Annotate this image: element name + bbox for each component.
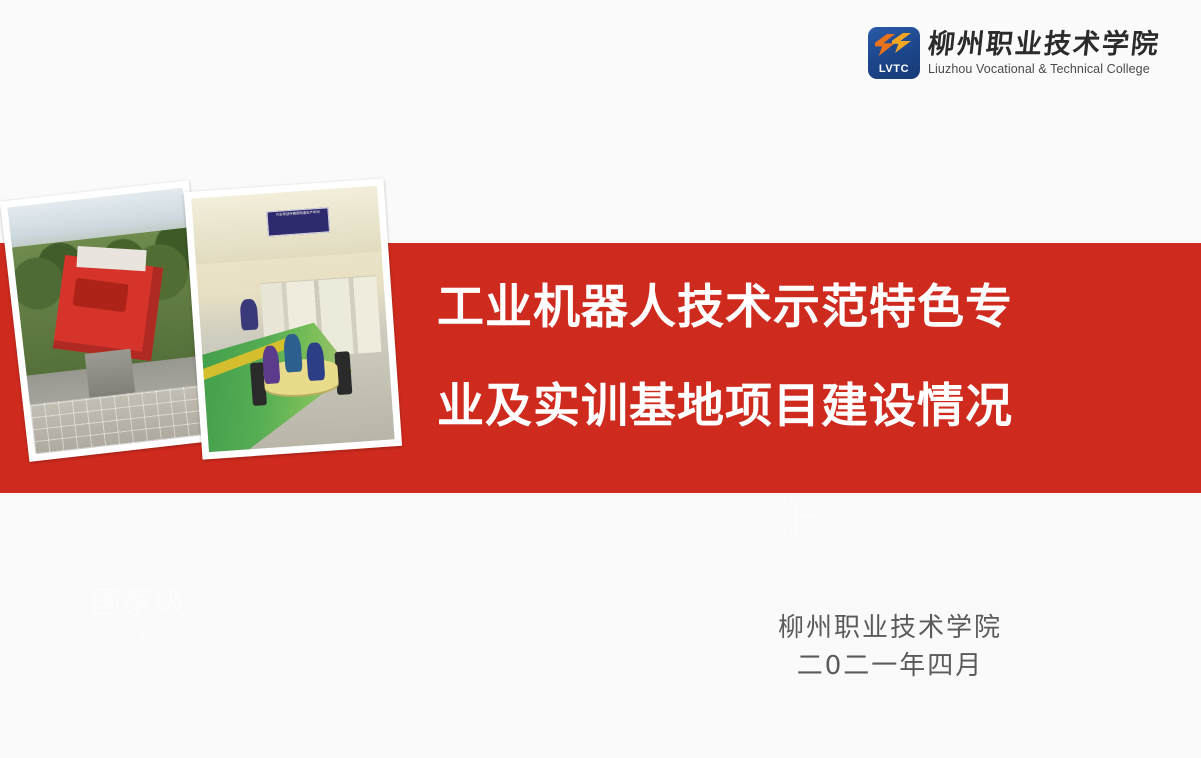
- title-line-1: 工业机器人技术示范特色专: [437, 282, 1137, 334]
- slide-title: 工业机器人技术示范特色专 业及实训基地项目建设情况 汇报: [437, 282, 1137, 433]
- logo-bolt-orange-icon: [875, 34, 895, 56]
- title-line-3: 汇报: [726, 495, 822, 547]
- ghost-text-line-2: 骨干高职院校: [90, 630, 290, 648]
- college-logo-lockup: LVTC 柳州职业技术学院 Liuzhou Vocational & Techn…: [868, 24, 1166, 82]
- logo-text-block: 柳州职业技术学院 Liuzhou Vocational & Technical …: [928, 31, 1160, 76]
- ghost-watermark-text: 国家级 骨干高职院校: [90, 586, 290, 648]
- lvtc-logo-icon: LVTC: [868, 27, 920, 79]
- person: [283, 334, 302, 373]
- red-cube-sculpture: [53, 256, 163, 362]
- training-workshop-photo-image: 汽车零部件精密制造生产车间: [191, 186, 394, 452]
- college-name-en: Liuzhou Vocational & Technical College: [928, 63, 1160, 76]
- title-slide: LVTC 柳州职业技术学院 Liuzhou Vocational & Techn…: [0, 0, 1201, 758]
- training-workshop-photo: 汽车零部件精密制造生产车间: [184, 178, 402, 459]
- workshop-sign: 汽车零部件精密制造生产车间: [267, 207, 330, 237]
- college-name-cn: 柳州职业技术学院: [927, 31, 1162, 58]
- logo-bolt-yellow-icon: [892, 33, 911, 53]
- photo-collage: 汽车零部件精密制造生产车间: [8, 182, 428, 472]
- logo-mark-label: LVTC: [868, 63, 920, 75]
- title-line-2: 业及实训基地项目建设情况: [437, 381, 1137, 433]
- campus-sculpture-photo-image: [8, 188, 211, 454]
- signature-organization: 柳州职业技术学院: [700, 612, 1080, 644]
- signature-date: 二0二一年四月: [700, 650, 1080, 682]
- person: [239, 299, 258, 331]
- signature-block: 柳州职业技术学院 二0二一年四月: [700, 612, 1080, 682]
- ghost-text-line-1: 国家级: [90, 586, 290, 620]
- pavement-tiles: [30, 385, 210, 454]
